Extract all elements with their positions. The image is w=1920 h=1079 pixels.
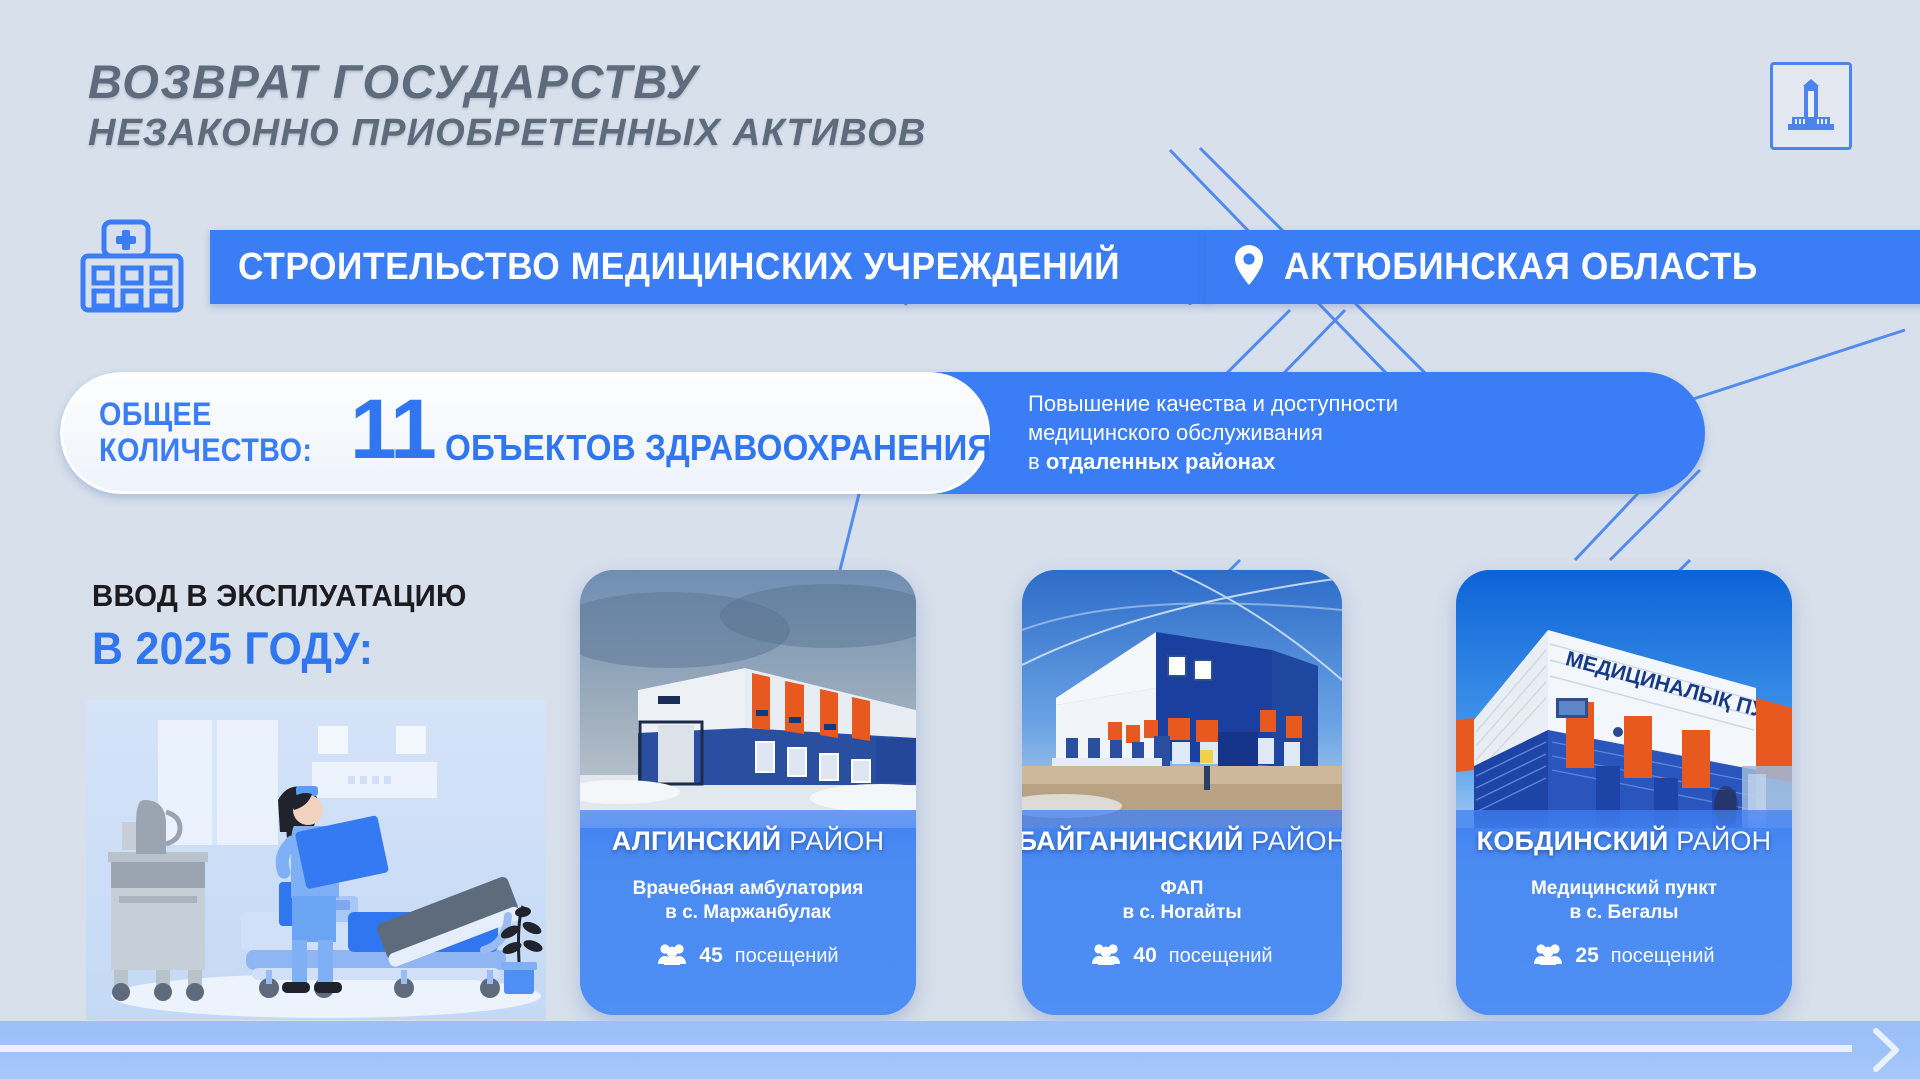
total-count-panel: ОБЩЕЕ КОЛИЧЕСТВО: 11 ОБЪЕКТОВ ЗДРАВООХРА… bbox=[60, 372, 990, 494]
facility-card[interactable]: БАЙГАНИНСКИЙ РАЙОН ФАП в с. Ногайты bbox=[1022, 570, 1342, 1015]
district-name: БАЙГАНИНСКИЙ bbox=[1022, 826, 1244, 856]
note-line-1: Повышение качества и доступности bbox=[1028, 390, 1628, 419]
facility-name-line-1: Медицинский пункт bbox=[1531, 877, 1717, 901]
facility-name: ФАП в с. Ногайты bbox=[1122, 877, 1241, 926]
commissioning-line-2: В 2025 ГОДУ: bbox=[92, 623, 467, 675]
footer-bar bbox=[0, 1021, 1920, 1079]
visits-unit: посещений bbox=[1169, 945, 1273, 968]
facility-card-body: КОБДИНСКИЙ РАЙОН Медицинский пункт в с. … bbox=[1456, 810, 1792, 1015]
total-count-value: 11 bbox=[350, 394, 435, 465]
facility-visits: 25 посещений bbox=[1533, 943, 1714, 970]
visits-count: 25 bbox=[1575, 944, 1598, 968]
note-line-3-bold: отдаленных районах bbox=[1046, 449, 1276, 474]
facility-card-body: АЛГИНСКИЙ РАЙОН Врачебная амбулатория в … bbox=[580, 810, 916, 1015]
facility-name-line-1: ФАП bbox=[1122, 877, 1241, 901]
district-word: РАЙОН bbox=[789, 826, 884, 856]
infographic-stage: ВОЗВРАТ ГОСУДАРСТВУ НЕЗАКОННО ПРИОБРЕТЕН… bbox=[0, 0, 1920, 1079]
visits-unit: посещений bbox=[1611, 945, 1715, 968]
facility-visits: 45 посещений bbox=[657, 943, 838, 970]
title-line-1: ВОЗВРАТ ГОСУДАРСТВУ bbox=[88, 58, 927, 107]
facility-district: КОБДИНСКИЙ РАЙОН bbox=[1477, 826, 1772, 857]
district-word: РАЙОН bbox=[1251, 826, 1342, 856]
total-label-line-2: КОЛИЧЕСТВО: bbox=[99, 433, 312, 469]
facility-name: Врачебная амбулатория в с. Маржанбулак bbox=[633, 877, 864, 926]
district-name: АЛГИНСКИЙ bbox=[612, 826, 782, 856]
visits-unit: посещений bbox=[735, 945, 839, 968]
facility-name-line-2: в с. Бегалы bbox=[1531, 901, 1717, 925]
page-title: ВОЗВРАТ ГОСУДАРСТВУ НЕЗАКОННО ПРИОБРЕТЕН… bbox=[88, 58, 927, 156]
medical-point-building-photo: МЕДИЦИНАЛЫҚ ПУНКТ bbox=[1456, 570, 1792, 828]
facility-card-body: БАЙГАНИНСКИЙ РАЙОН ФАП в с. Ногайты bbox=[1022, 810, 1342, 1015]
district-name: КОБДИНСКИЙ bbox=[1477, 826, 1669, 856]
total-label-line-1: ОБЩЕЕ bbox=[99, 397, 312, 433]
banner-category-label: СТРОИТЕЛЬСТВО МЕДИЦИНСКИХ УЧРЕЖДЕНИЙ bbox=[238, 246, 1120, 289]
note-line-2: медицинского обслуживания bbox=[1028, 419, 1628, 448]
facility-district: АЛГИНСКИЙ РАЙОН bbox=[612, 826, 884, 857]
medical-outpatient-clinic-photo bbox=[580, 570, 916, 828]
total-unit-label: ОБЪЕКТОВ ЗДРАВООХРАНЕНИЯ bbox=[445, 427, 991, 469]
note-line-3-prefix: в bbox=[1028, 449, 1046, 474]
total-strip-note: Повышение качества и доступности медицин… bbox=[1028, 390, 1628, 476]
feldsher-midwife-station-photo bbox=[1022, 570, 1342, 828]
note-line-3: в отдаленных районах bbox=[1028, 448, 1628, 477]
people-group-icon bbox=[657, 943, 687, 970]
people-group-icon bbox=[1533, 943, 1563, 970]
facility-name-line-2: в с. Ногайты bbox=[1122, 901, 1241, 925]
title-line-2: НЕЗАКОННО ПРИОБРЕТЕННЫХ АКТИВОВ bbox=[88, 111, 927, 156]
commissioning-heading: ВВОД В ЭКСПЛУАТАЦИЮ В 2025 ГОДУ: bbox=[92, 578, 486, 675]
banner-category[interactable]: СТРОИТЕЛЬСТВО МЕДИЦИНСКИХ УЧРЕЖДЕНИЙ bbox=[210, 230, 1208, 304]
facility-name: Медицинский пункт в с. Бегалы bbox=[1531, 877, 1717, 926]
total-label: ОБЩЕЕ КОЛИЧЕСТВО: bbox=[99, 397, 312, 469]
banner-region-label: АКТЮБИНСКАЯ ОБЛАСТЬ bbox=[1284, 246, 1758, 289]
facility-name-line-2: в с. Маржанбулак bbox=[633, 901, 864, 925]
facility-district: БАЙГАНИНСКИЙ РАЙОН bbox=[1022, 826, 1342, 857]
footer-divider bbox=[0, 1045, 1852, 1052]
map-pin-icon bbox=[1234, 244, 1264, 291]
banner-region[interactable]: АКТЮБИНСКАЯ ОБЛАСТЬ bbox=[1206, 230, 1920, 304]
facility-name-line-1: Врачебная амбулатория bbox=[633, 877, 864, 901]
district-word: РАЙОН bbox=[1676, 826, 1771, 856]
facility-card[interactable]: АЛГИНСКИЙ РАЙОН Врачебная амбулатория в … bbox=[580, 570, 916, 1015]
facility-visits: 40 посещений bbox=[1091, 943, 1272, 970]
visits-count: 40 bbox=[1133, 944, 1156, 968]
people-group-icon bbox=[1091, 943, 1121, 970]
chevron-right-icon bbox=[1870, 1027, 1904, 1078]
nurse-with-hospital-bed-illustration bbox=[86, 700, 546, 1020]
facility-card[interactable]: МЕДИЦИНАЛЫҚ ПУНКТ bbox=[1456, 570, 1792, 1015]
hospital-building-icon bbox=[78, 218, 186, 314]
commissioning-line-1: ВВОД В ЭКСПЛУАТАЦИЮ bbox=[92, 578, 467, 614]
government-building-icon bbox=[1770, 62, 1852, 150]
visits-count: 45 bbox=[699, 944, 722, 968]
